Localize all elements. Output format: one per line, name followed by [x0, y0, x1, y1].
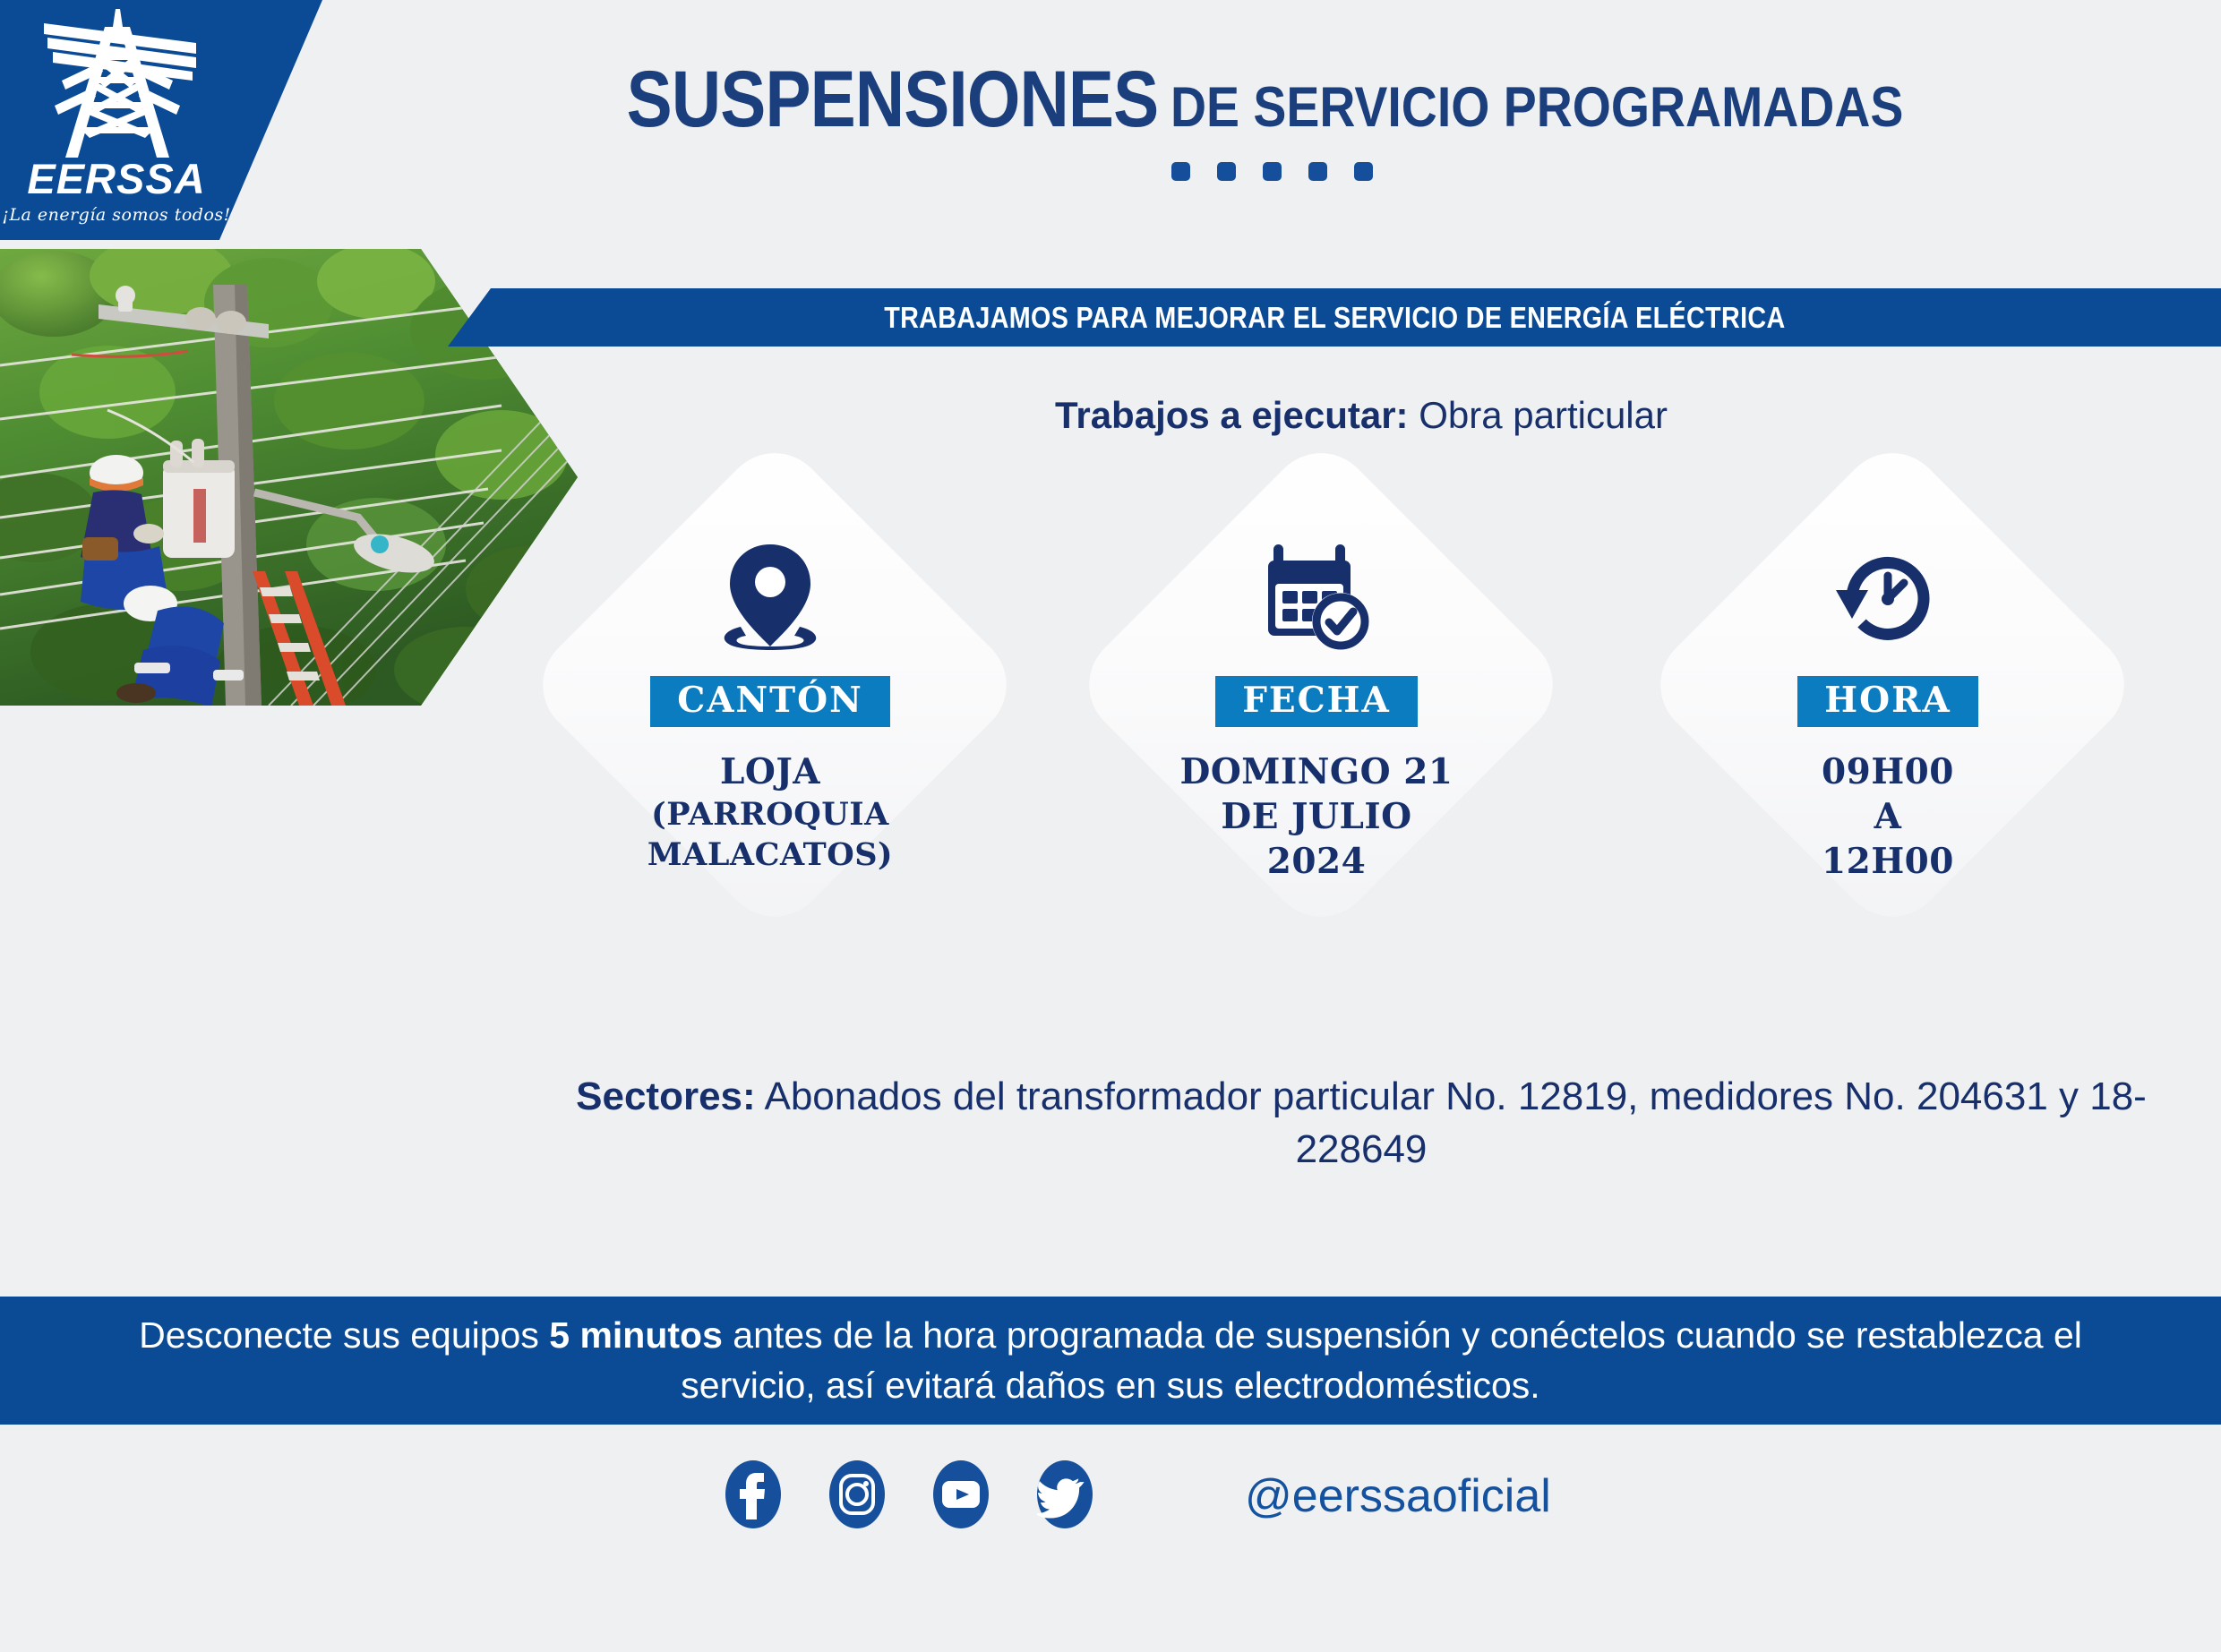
value-line: DOMINGO 21 — [1180, 750, 1454, 795]
card-value-canton: LOJA (PARROQUIA MALACATOS) — [647, 750, 893, 876]
card-content: FECHA DOMINGO 21 DE JULIO 2024 — [1048, 506, 1585, 1052]
twitter-icon[interactable] — [1037, 1460, 1093, 1533]
stripe-text: TRABAJAMOS PARA MEJORAR EL SERVICIO DE E… — [884, 301, 1785, 335]
advisory-part1: Desconecte sus equipos — [139, 1314, 549, 1356]
divider-dot — [1308, 162, 1327, 181]
works-to-execute-line: Trabajos a ejecutar: Obra particular — [573, 394, 2149, 437]
card-value-hora: 09H00 A 12H00 — [1822, 750, 1954, 885]
map-pin-icon — [717, 540, 823, 656]
card-badge-fecha: FECHA — [1215, 676, 1418, 727]
card-content: CANTÓN LOJA (PARROQUIA MALACATOS) — [502, 506, 1039, 1052]
advisory-text: Desconecte sus equipos 5 minutos antes d… — [107, 1311, 2114, 1410]
service-stripe-banner: TRABAJAMOS PARA MEJORAR EL SERVICIO DE E… — [448, 288, 2221, 347]
sectors-label: Sectores: — [576, 1074, 756, 1118]
title-primary: SUSPENSIONES — [627, 59, 1159, 139]
value-line: LOJA — [647, 750, 893, 795]
value-line: MALACATOS) — [647, 835, 893, 876]
divider-dot — [1171, 162, 1190, 181]
logo-panel: EERSSA ¡La energía somos todos! — [0, 0, 322, 240]
dot-divider — [1171, 162, 1373, 181]
logo-inner: EERSSA ¡La energía somos todos! — [0, 0, 233, 240]
value-line: 09H00 — [1822, 750, 1954, 795]
calendar-check-icon — [1259, 540, 1374, 656]
youtube-icon[interactable] — [933, 1460, 989, 1533]
page-header: SUSPENSIONES DE SERVICIO PROGRAMADAS — [322, 0, 2221, 240]
divider-dot — [1354, 162, 1373, 181]
sectors-line: Sectores: Abonados del transformador par… — [573, 1070, 2149, 1177]
instagram-icon[interactable] — [829, 1460, 885, 1533]
value-line: (PARROQUIA — [647, 795, 893, 835]
logo-tagline: ¡La energía somos todos! — [2, 205, 231, 225]
advisory-part2: antes de la hora programada de suspensió… — [681, 1314, 2082, 1405]
sectors-value: Abonados del transformador particular No… — [764, 1074, 2146, 1171]
logo-wordmark: EERSSA — [27, 158, 205, 200]
divider-dot — [1263, 162, 1282, 181]
works-label: Trabajos a ejecutar: — [1055, 394, 1409, 436]
advisory-bold: 5 minutos — [549, 1314, 723, 1356]
divider-dot — [1217, 162, 1236, 181]
card-hora: HORA 09H00 A 12H00 — [1619, 506, 2157, 1052]
value-line: 12H00 — [1822, 840, 1954, 885]
title-secondary: DE SERVICIO PROGRAMADAS — [1171, 80, 1903, 136]
works-value: Obra particular — [1419, 394, 1668, 436]
card-badge-hora: HORA — [1797, 676, 1978, 727]
footer: @eerssaoficial — [0, 1425, 2221, 1568]
card-content: HORA 09H00 A 12H00 — [1619, 506, 2157, 1052]
card-value-fecha: DOMINGO 21 DE JULIO 2024 — [1180, 750, 1454, 885]
transmission-tower-icon — [30, 7, 204, 168]
social-links — [725, 1460, 1093, 1533]
clock-history-icon — [1831, 540, 1945, 656]
advisory-banner: Desconecte sus equipos 5 minutos antes d… — [0, 1297, 2221, 1425]
value-line: A — [1822, 795, 1954, 840]
card-badge-canton: CANTÓN — [650, 676, 890, 727]
page-title: SUSPENSIONES DE SERVICIO PROGRAMADAS — [540, 59, 2003, 139]
facebook-icon[interactable] — [725, 1460, 781, 1533]
card-fecha: FECHA DOMINGO 21 DE JULIO 2024 — [1048, 506, 1585, 1052]
card-canton: CANTÓN LOJA (PARROQUIA MALACATOS) — [502, 506, 1039, 1052]
value-line: 2024 — [1180, 840, 1454, 885]
social-handle: @eerssaoficial — [1245, 1469, 1551, 1523]
info-cards: CANTÓN LOJA (PARROQUIA MALACATOS) — [502, 506, 2221, 1052]
value-line: DE JULIO — [1180, 795, 1454, 840]
